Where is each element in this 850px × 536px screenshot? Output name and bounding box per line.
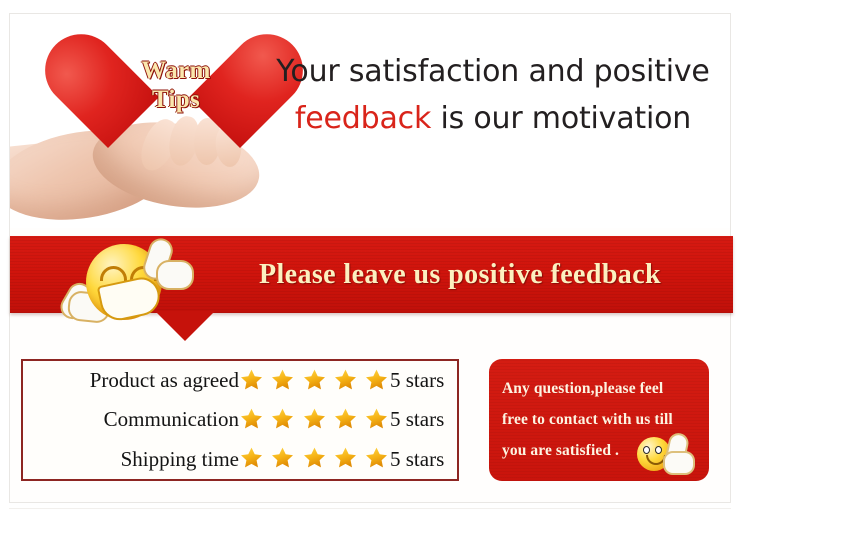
star-icon	[364, 407, 389, 431]
thumb-icon	[156, 260, 194, 290]
star-icon	[302, 446, 327, 470]
rating-stars	[239, 440, 390, 479]
star-icon	[239, 407, 264, 431]
rating-label: Shipping time	[23, 440, 239, 479]
star-icon	[239, 368, 264, 392]
star-icon	[333, 407, 358, 431]
seller-rating-box: Product as agreed 5 stars Communication	[21, 359, 459, 481]
star-icon	[270, 446, 295, 470]
bottom-divider	[9, 508, 731, 509]
rating-count: 5 stars	[390, 440, 457, 479]
laughing-face-thumbs-up-icon	[58, 238, 190, 330]
star-icon	[333, 368, 358, 392]
contact-us-box: Any question,please feel free to contact…	[489, 359, 709, 481]
rating-stars	[239, 361, 390, 400]
rating-table: Product as agreed 5 stars Communication	[23, 361, 457, 479]
smiley-thumbs-up-icon	[637, 433, 693, 473]
page-root: Warm Tips Your satisfaction and positive…	[0, 0, 850, 536]
star-icon	[239, 446, 264, 470]
star-icon	[333, 446, 358, 470]
hero-headline-highlight: feedback	[295, 101, 431, 136]
warm-tips-heart-badge: Warm Tips	[98, 22, 254, 162]
rating-count: 5 stars	[390, 400, 457, 439]
eye-icon	[643, 446, 650, 454]
contact-line-2: free to contact with us till	[502, 404, 698, 435]
hero-headline-line-1: Your satisfaction and positive	[262, 48, 724, 95]
warm-tips-line-2: Tips	[98, 85, 254, 114]
table-row: Shipping time 5 stars	[23, 440, 457, 479]
star-icon	[302, 368, 327, 392]
feedback-banner: Please leave us positive feedback	[10, 236, 733, 340]
banner-text: Please leave us positive feedback	[200, 256, 720, 294]
rating-stars	[239, 400, 390, 439]
rating-count: 5 stars	[390, 361, 457, 400]
star-icon	[270, 407, 295, 431]
contact-line-1: Any question,please feel	[502, 373, 698, 404]
rating-label: Product as agreed	[23, 361, 239, 400]
eye-icon	[655, 446, 662, 454]
hero-headline-line-2: feedback is our motivation	[262, 95, 724, 142]
star-icon	[364, 446, 389, 470]
table-row: Communication 5 stars	[23, 400, 457, 439]
star-icon	[302, 407, 327, 431]
star-icon	[270, 368, 295, 392]
star-icon	[364, 368, 389, 392]
warm-tips-line-1: Warm	[98, 56, 254, 85]
warm-tips-label: Warm Tips	[98, 56, 254, 114]
hero-headline-tail: is our motivation	[431, 101, 691, 136]
warm-tips-hero: Warm Tips Your satisfaction and positive…	[10, 14, 730, 228]
rating-label: Communication	[23, 400, 239, 439]
hero-headline: Your satisfaction and positive feedback …	[262, 48, 724, 142]
thumb-icon	[663, 451, 695, 475]
table-row: Product as agreed 5 stars	[23, 361, 457, 400]
